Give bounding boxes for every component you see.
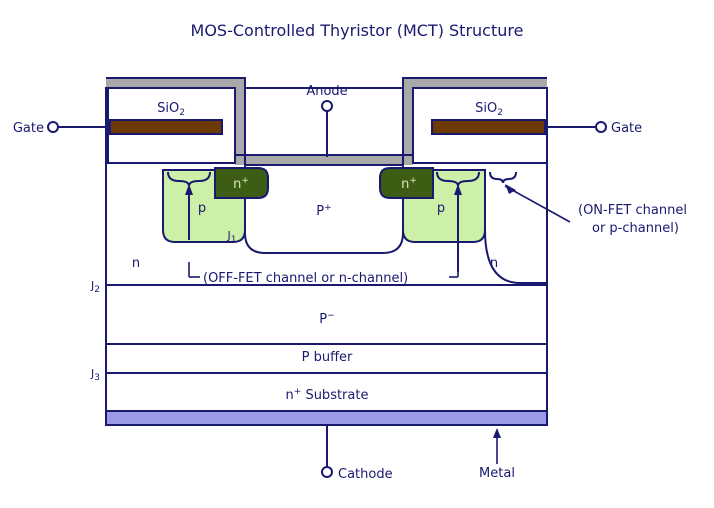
metal-annotation: Metal — [479, 466, 515, 481]
p-buffer-layer-label: P buffer — [302, 350, 353, 365]
anode-metal-top-right — [403, 78, 547, 88]
diagram-canvas: MOS-Controlled Thyristor (MCT) Structure… — [0, 0, 714, 508]
n-drift-label-right: n — [490, 256, 498, 271]
gate-label-left: Gate — [13, 121, 44, 136]
cathode-metal-layer — [106, 411, 547, 425]
page-title: MOS-Controlled Thyristor (MCT) Structure — [191, 21, 524, 40]
gate-electrode-right — [432, 120, 545, 134]
mct-structure-diagram: MOS-Controlled Thyristor (MCT) Structure… — [0, 0, 714, 508]
cathode-label: Cathode — [338, 467, 393, 482]
on-fet-annotation-line2: or p-channel) — [592, 221, 679, 236]
gate-terminal-right[interactable] — [596, 122, 606, 132]
pwell-label-right: p — [437, 201, 445, 216]
anode-metal-wall-right — [403, 78, 413, 162]
anode-metal-top-left — [106, 78, 245, 88]
off-fet-annotation: (OFF-FET channel or n-channel) — [203, 271, 408, 286]
gate-label-right: Gate — [611, 121, 642, 136]
gate-electrode-left — [110, 120, 222, 134]
n-drift-label-left: n — [132, 256, 140, 271]
on-fet-annotation-line1: (ON-FET channel — [578, 203, 687, 218]
anode-metal-contact-base — [235, 155, 413, 165]
anode-metal-wall-left — [235, 78, 245, 162]
pwell-label-left: p — [198, 201, 206, 216]
cathode-terminal[interactable] — [322, 467, 332, 477]
anode-label: Anode — [306, 84, 347, 99]
anode-terminal[interactable] — [322, 101, 332, 111]
gate-terminal-left[interactable] — [48, 122, 58, 132]
